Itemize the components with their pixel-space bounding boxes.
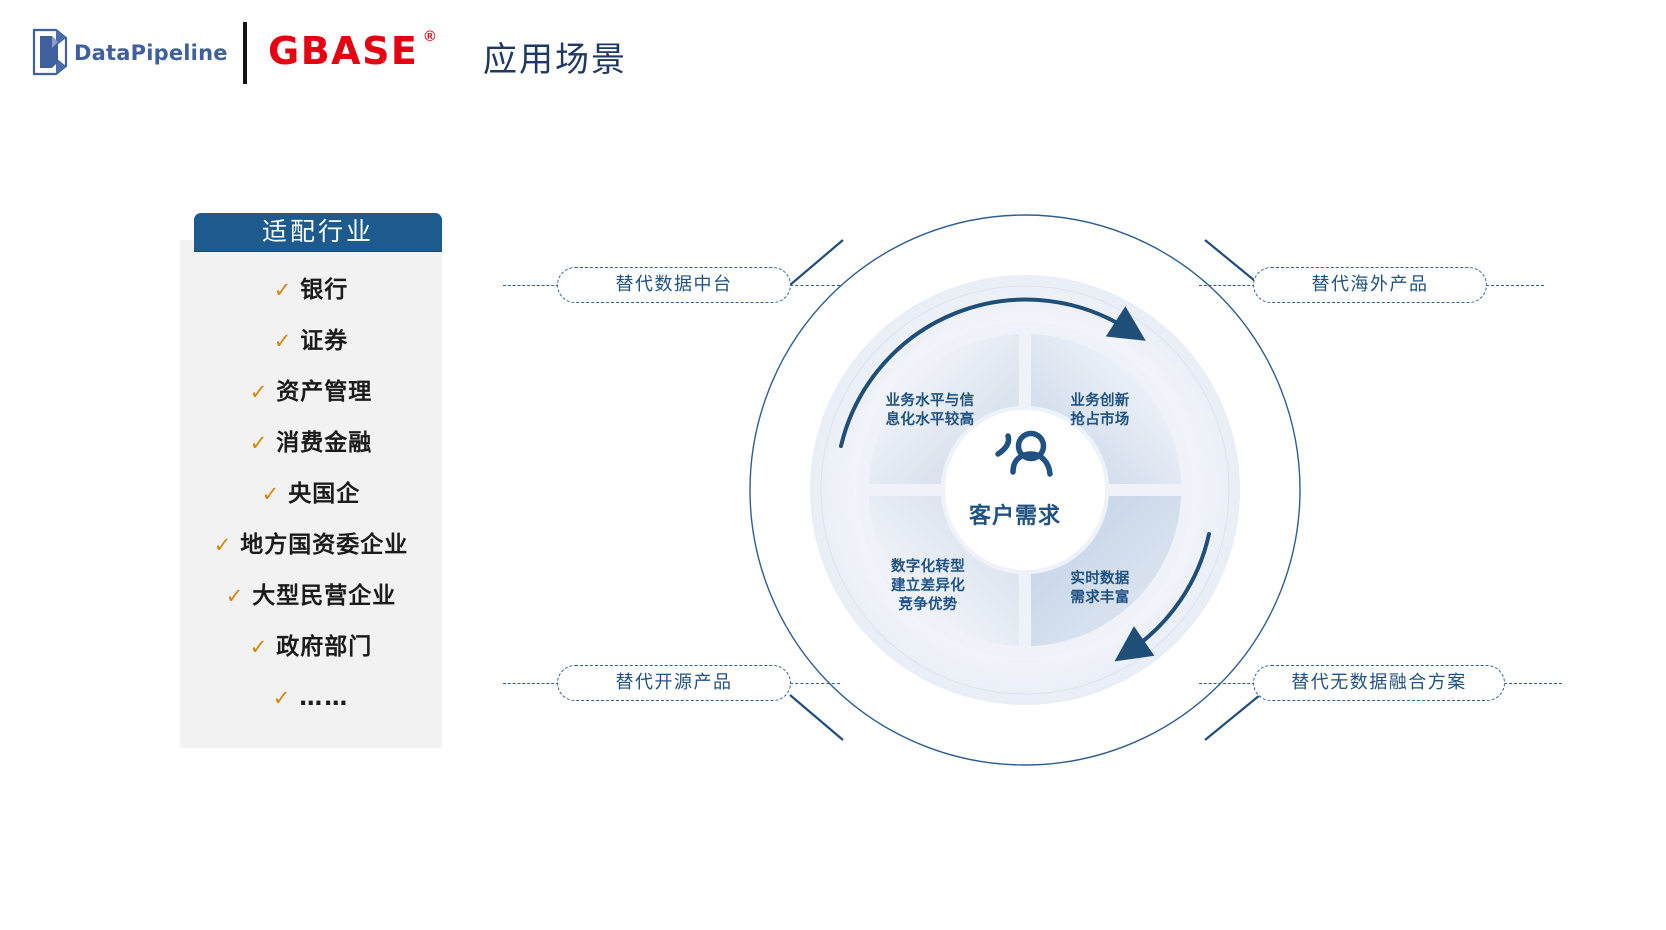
header-divider (243, 22, 247, 84)
check-icon: ✓ (250, 431, 269, 455)
list-item-label: 消费金融 (276, 430, 372, 456)
quadrant-line: 建立差异化 (868, 577, 988, 596)
pill-leader-line (790, 285, 840, 286)
list-item: ✓…… (180, 673, 442, 724)
list-item-label: 大型民营企业 (252, 583, 396, 609)
partner-name: GBASE (268, 29, 418, 73)
quadrant-line: 息化水平较高 (870, 411, 990, 430)
check-icon: ✓ (214, 533, 233, 557)
pill-top-left[interactable]: 替代数据中台 (557, 267, 791, 303)
quadrant-line: 业务水平与信 (870, 392, 990, 411)
pill-top-right[interactable]: 替代海外产品 (1253, 267, 1487, 303)
list-item: ✓央国企 (180, 469, 442, 520)
brand-name: DataPipeline (74, 41, 228, 65)
pill-bottom-right[interactable]: 替代无数据融合方案 (1253, 665, 1505, 701)
list-item: ✓银行 (180, 265, 442, 316)
slide-header: DataPipeline GBASE ® 应用场景 (0, 0, 1666, 110)
check-icon: ✓ (250, 380, 269, 404)
pill-leader-line (1199, 683, 1255, 684)
quadrant-line: 竞争优势 (868, 596, 988, 615)
list-item: ✓大型民营企业 (180, 571, 442, 622)
list-item-label: …… (299, 685, 349, 711)
list-item-label: 央国企 (288, 481, 360, 507)
quadrant-label-bottom-left: 数字化转型 建立差异化 竞争优势 (868, 558, 988, 615)
pill-leader-line (1504, 683, 1562, 684)
registered-mark-icon: ® (424, 28, 435, 45)
check-icon: ✓ (262, 482, 281, 506)
hub-label: 客户需求 (950, 498, 1080, 530)
check-icon: ✓ (250, 635, 269, 659)
pill-bottom-left[interactable]: 替代开源产品 (557, 665, 791, 701)
partner-logo: GBASE ® (268, 28, 418, 76)
list-item-label: 政府部门 (276, 634, 372, 660)
quadrant-label-top-left: 业务水平与信 息化水平较高 (870, 392, 990, 430)
quadrant-line: 抢占市场 (1045, 411, 1155, 430)
pill-leader-line (1199, 285, 1255, 286)
quadrant-label-bottom-right: 实时数据 需求丰富 (1045, 570, 1155, 608)
pill-leader-line (1486, 285, 1544, 286)
quadrant-line: 需求丰富 (1045, 589, 1155, 608)
quadrant-line: 业务创新 (1045, 392, 1155, 411)
check-icon: ✓ (273, 686, 292, 710)
list-item: ✓证券 (180, 316, 442, 367)
page-title: 应用场景 (483, 32, 627, 81)
industry-panel-title: 适配行业 (194, 213, 442, 251)
list-item-label: 证券 (300, 328, 348, 354)
pill-leader-line (503, 285, 559, 286)
quadrant-line: 数字化转型 (868, 558, 988, 577)
customer-needs-diagram: 业务水平与信 息化水平较高 业务创新 抢占市场 数字化转型 建立差异化 竞争优势… (735, 140, 1315, 840)
quadrant-label-top-right: 业务创新 抢占市场 (1045, 392, 1155, 430)
slide-canvas: DataPipeline GBASE ® 应用场景 适配行业 ✓银行 ✓证券 ✓… (0, 0, 1666, 930)
pill-leader-line (790, 683, 840, 684)
list-item: ✓地方国资委企业 (180, 520, 442, 571)
list-item: ✓消费金融 (180, 418, 442, 469)
list-item-label: 资产管理 (276, 379, 372, 405)
check-icon: ✓ (274, 329, 293, 353)
list-item-label: 地方国资委企业 (240, 532, 408, 558)
list-item: ✓资产管理 (180, 367, 442, 418)
quadrant-line: 实时数据 (1045, 570, 1155, 589)
datapipeline-logo-icon (32, 28, 68, 76)
industry-panel: 适配行业 ✓银行 ✓证券 ✓资产管理 ✓消费金融 ✓央国企 ✓地方国资委企业 ✓… (180, 213, 442, 748)
check-icon: ✓ (274, 278, 293, 302)
pill-leader-line (503, 683, 559, 684)
diagram-graphics (735, 140, 1315, 840)
list-item-label: 银行 (300, 277, 348, 303)
industry-list: ✓银行 ✓证券 ✓资产管理 ✓消费金融 ✓央国企 ✓地方国资委企业 ✓大型民营企… (180, 265, 442, 724)
list-item: ✓政府部门 (180, 622, 442, 673)
check-icon: ✓ (226, 584, 245, 608)
